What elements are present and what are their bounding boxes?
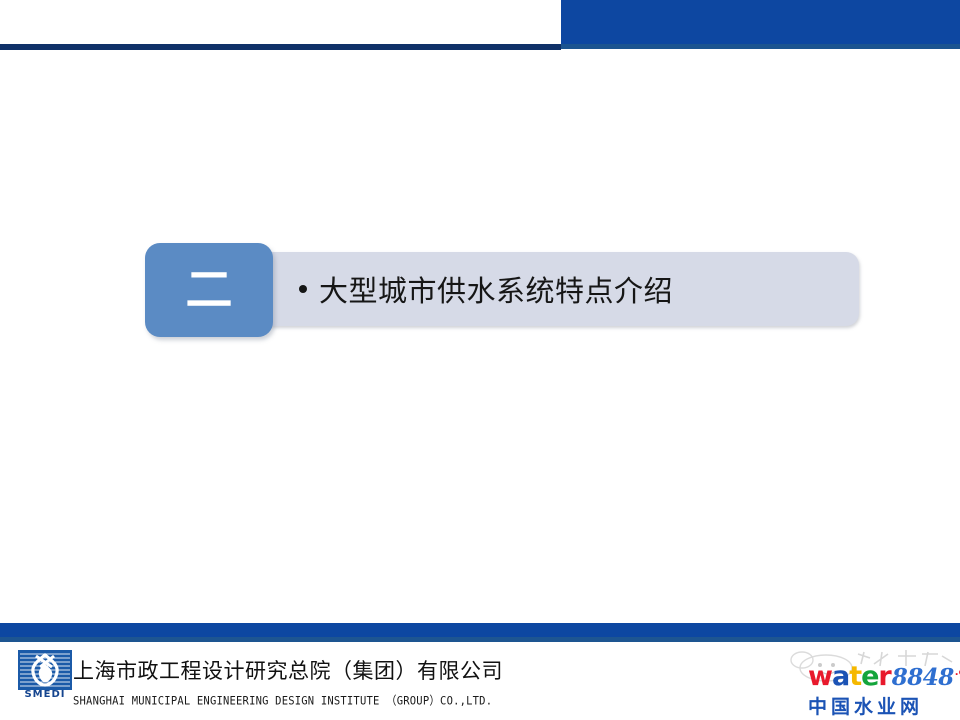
footer-company-name-cn: 上海市政工程设计研究总院（集团）有限公司 (73, 655, 503, 685)
watermark-letter-a: a (832, 663, 849, 690)
watermark-number: 8848 (892, 666, 954, 689)
section-title-label: 大型城市供水系统特点介绍 (319, 268, 673, 310)
footer-bar-shadow (0, 637, 960, 642)
watermark-letter-r: r (878, 663, 890, 690)
header-navy-rule (0, 44, 561, 50)
watermark-tld: .com (955, 668, 960, 678)
section-banner: 大型城市供水系统特点介绍 二 (145, 243, 859, 337)
section-number-box: 二 (145, 243, 273, 337)
section-title-bar: 大型城市供水系统特点介绍 (209, 252, 859, 326)
site-watermark: water8848.com 中国水业网 (786, 648, 960, 714)
watermark-letter-t: t (849, 663, 861, 690)
smedi-logo: SMEDI (18, 650, 72, 702)
watermark-letter-w: w (808, 663, 832, 690)
watermark-brand: water8848.com (808, 663, 960, 690)
footer-company-name-en: SHANGHAI MUNICIPAL ENGINEERING DESIGN IN… (73, 692, 492, 709)
bullet-icon (299, 285, 307, 293)
header-blue-block-shadow (561, 44, 960, 49)
header-blue-block (561, 0, 960, 48)
presentation-slide: 大型城市供水系统特点介绍 二 (0, 0, 960, 720)
smedi-logo-icon (18, 650, 72, 690)
watermark-brand-cn: 中国水业网 (808, 692, 923, 719)
section-title-text-group: 大型城市供水系统特点介绍 (299, 268, 673, 310)
smedi-wordmark: SMEDI (18, 689, 72, 701)
section-number-label: 二 (186, 267, 233, 314)
watermark-letter-e: e (861, 663, 878, 690)
